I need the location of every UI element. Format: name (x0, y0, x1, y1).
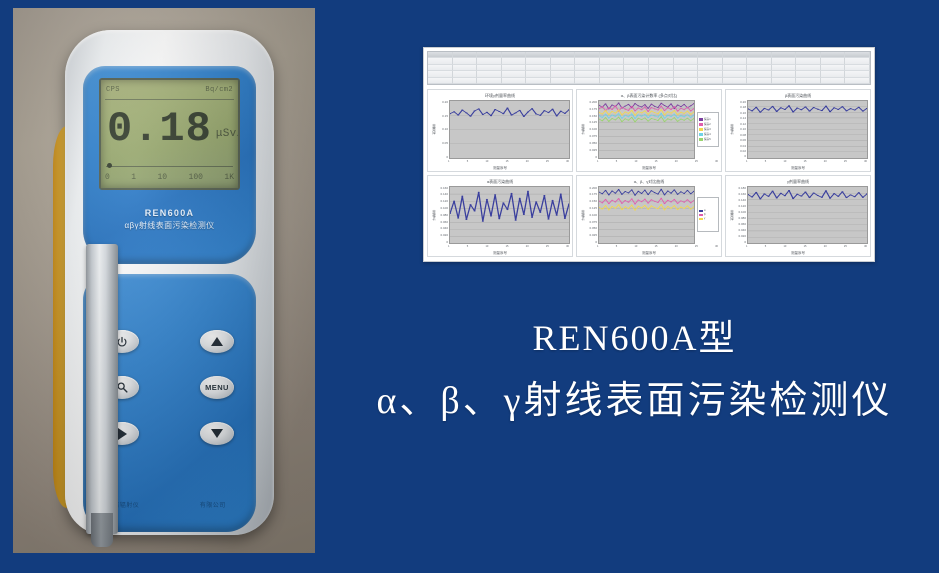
chart-plot (449, 100, 570, 159)
chart-y-tick: 0.175 (585, 192, 597, 196)
chart-y-tick: 0.150 (585, 199, 597, 203)
menu-button[interactable]: MENU (200, 376, 234, 399)
table-cell (575, 78, 600, 84)
down-button[interactable] (200, 422, 234, 445)
table-cell (772, 78, 797, 84)
legend-swatch-icon (699, 118, 703, 121)
chart-y-axis-label: 剂量率 (728, 186, 734, 245)
menu-button-label: MENU (205, 383, 229, 392)
device-brand-plate: REN600A αβγ射线表面污染检测仪 (83, 208, 256, 231)
chart-y-tick: 0 (734, 240, 746, 244)
triangle-up-icon (211, 337, 223, 346)
chart-y-tick: 0.125 (585, 120, 597, 124)
chart-y-ticks: 0.2000.1750.1500.1250.1000.0750.0500.025… (585, 100, 598, 159)
chart-y-tick: 0.160 (734, 192, 746, 196)
chart-y-tick: 0.180 (734, 186, 746, 190)
chart-y-tick: 0.04 (734, 144, 746, 148)
chart-y-tick: 0.10 (436, 127, 448, 131)
chart-legend-item: β (699, 213, 717, 216)
title-block: REN600A型 α、β、γ射线表面污染检测仪 (330, 315, 939, 429)
table-cell (649, 78, 674, 84)
chart-y-tick: 0.080 (436, 213, 448, 217)
table-cell (674, 78, 699, 84)
lcd-scale: 0 1 10 100 1K (105, 173, 234, 185)
chart-y-tick: 0.040 (436, 226, 448, 230)
table-cell (428, 78, 453, 84)
table-cell (796, 78, 821, 84)
chart-y-tick: 0 (436, 240, 448, 244)
lcd-bargraph (106, 162, 233, 169)
legend-label: 探头2 (704, 122, 711, 126)
chart-y-tick: 0.125 (585, 206, 597, 210)
chart-y-tick: 0.20 (734, 100, 746, 104)
chart-y-tick: 0.075 (585, 134, 597, 138)
chart-cell: β表面污染曲线计数率0.200.180.160.140.120.100.080.… (725, 89, 871, 172)
chart-title: α表面污染曲线 (430, 179, 570, 185)
chart-legend-item: 探头4 (699, 132, 717, 136)
chart-y-axis-label: 计数率 (430, 186, 436, 245)
chart-y-tick: 0.150 (585, 114, 597, 118)
chart-plot (747, 186, 868, 245)
handle-strap-foot (91, 513, 113, 547)
chart-x-axis-label: 测量序号 (577, 165, 721, 171)
chart-y-tick: 0.18 (734, 105, 746, 109)
lcd-display: CPS Bq/cm2 0.18 μSv/h 0 1 10 100 1K (99, 78, 240, 190)
table-cell (502, 78, 527, 84)
chart-y-ticks: 0.200.180.160.140.120.100.080.060.040.02… (734, 100, 747, 159)
chart-legend-item: 探头3 (699, 127, 717, 131)
chart-plot-area: 剂量率0.1800.1600.1400.1200.1000.0800.0600.… (728, 186, 868, 245)
chart-title: α、β、γ对比曲线 (579, 179, 719, 185)
chart-y-axis-label: 剂量率 (430, 100, 436, 159)
table-cell (624, 78, 649, 84)
chart-x-axis-label: 测量序号 (428, 165, 572, 171)
chart-y-tick: 0.020 (436, 233, 448, 237)
up-button[interactable] (200, 330, 234, 353)
chart-y-tick: 0 (585, 155, 597, 159)
table-cell (845, 78, 870, 84)
table-cell (698, 78, 723, 84)
device-photo: CPS Bq/cm2 0.18 μSv/h 0 1 10 100 1K (13, 8, 315, 553)
chart-y-tick: 0.140 (436, 192, 448, 196)
chart-y-axis-label: 计数率 (579, 100, 585, 159)
chart-x-axis-label: 测量序号 (726, 250, 870, 256)
chart-legend: αβγ (697, 197, 719, 232)
chart-x-axis-label: 测量序号 (428, 250, 572, 256)
chart-y-ticks: 0.2000.1750.1500.1250.1000.0750.0500.025… (585, 186, 598, 245)
legend-swatch-icon (699, 218, 703, 221)
chart-legend-item: 探头1 (699, 117, 717, 121)
chart-cell: γ剂量率曲线剂量率0.1800.1600.1400.1200.1000.0800… (725, 175, 871, 258)
lcd-status-right: Bq/cm2 (205, 86, 233, 94)
chart-cell: α、β表面污染计数率 (多点对比)计数率0.2000.1750.1500.125… (576, 89, 722, 172)
chart-y-tick: 0.175 (585, 107, 597, 111)
lcd-bargraph-marker (107, 163, 112, 168)
software-screenshot-panel: 环境γ剂量率曲线剂量率0.200.150.100.050151015202530… (423, 47, 875, 262)
chart-y-tick: 0.060 (734, 222, 746, 226)
chart-plot-area: 计数率0.200.180.160.140.120.100.080.060.040… (728, 100, 868, 159)
table-cell (723, 78, 748, 84)
device-footer-right: 有限公司 (200, 500, 226, 509)
chart-y-tick: 0.050 (585, 141, 597, 145)
chart-y-tick: 0.16 (734, 111, 746, 115)
device-subtitle-label: αβγ射线表面污染检测仪 (83, 220, 256, 231)
lcd-reading: 0.18 μSv/h (107, 102, 234, 156)
lcd-value: 0.18 (107, 108, 212, 150)
product-name-title: α、β、γ射线表面污染检测仪 (330, 373, 939, 429)
chart-y-tick: 0.05 (436, 141, 448, 145)
chart-legend: 探头1探头2探头3探头4探头5 (697, 112, 719, 147)
table-cell (453, 78, 478, 84)
data-table-strip (427, 51, 871, 85)
chart-y-ticks: 0.1800.1600.1400.1200.1000.0800.0600.040… (734, 186, 747, 245)
chart-legend-item: 探头2 (699, 122, 717, 126)
chart-title: β表面污染曲线 (728, 93, 868, 99)
table-cell (821, 78, 846, 84)
chart-plot-area: 计数率0.2000.1750.1500.1250.1000.0750.0500.… (579, 186, 719, 245)
table-cell (747, 78, 772, 84)
chart-plot (449, 186, 570, 245)
legend-swatch-icon (699, 123, 703, 126)
legend-swatch-icon (699, 138, 703, 141)
lcd-status-left: CPS (106, 86, 120, 94)
legend-label: β (704, 213, 706, 216)
chart-plot (747, 100, 868, 159)
lcd-unit: μSv/h (216, 128, 240, 140)
chart-y-axis-label: 计数率 (579, 186, 585, 245)
chart-y-tick: 0.20 (436, 100, 448, 104)
legend-label: α (704, 209, 706, 212)
chart-y-tick: 0.08 (734, 133, 746, 137)
product-model-title: REN600A型 (330, 315, 939, 361)
chart-y-tick: 0 (734, 154, 746, 158)
chart-y-tick: 0.200 (585, 186, 597, 190)
legend-swatch-icon (699, 214, 703, 217)
legend-swatch-icon (699, 133, 703, 136)
chart-y-tick: 0.025 (585, 233, 597, 237)
table-cell (551, 78, 576, 84)
chart-y-ticks: 0.1600.1400.1200.1000.0800.0600.0400.020… (436, 186, 449, 245)
chart-title: α、β表面污染计数率 (多点对比) (579, 93, 719, 99)
chart-y-tick: 0.060 (436, 220, 448, 224)
chart-plot (598, 100, 695, 159)
chart-x-axis-label: 测量序号 (577, 250, 721, 256)
chart-plot (598, 186, 695, 245)
chart-cell: α表面污染曲线计数率0.1600.1400.1200.1000.0800.060… (427, 175, 573, 258)
chart-cell: 环境γ剂量率曲线剂量率0.200.150.100.050151015202530… (427, 89, 573, 172)
chart-y-tick: 0.140 (734, 198, 746, 202)
chart-y-tick: 0.100 (585, 213, 597, 217)
chart-y-tick: 0.100 (734, 210, 746, 214)
chart-y-tick: 0.080 (734, 216, 746, 220)
chart-y-tick: 0.12 (734, 122, 746, 126)
legend-label: 探头1 (704, 117, 711, 121)
chart-y-ticks: 0.200.150.100.050 (436, 100, 449, 159)
handle-strap (86, 244, 118, 534)
legend-label: 探头3 (704, 127, 711, 131)
chart-y-tick: 0.020 (734, 234, 746, 238)
device-upper-bezel: CPS Bq/cm2 0.18 μSv/h 0 1 10 100 1K (83, 66, 256, 264)
triangle-down-icon (211, 429, 223, 438)
lcd-divider (105, 99, 234, 100)
chart-y-tick: 0.120 (734, 204, 746, 208)
chart-title: 环境γ剂量率曲线 (430, 93, 570, 99)
chart-cell: α、β、γ对比曲线计数率0.2000.1750.1500.1250.1000.0… (576, 175, 722, 258)
chart-y-tick: 0.06 (734, 138, 746, 142)
legend-swatch-icon (699, 128, 703, 131)
lcd-bargraph-line (106, 166, 233, 167)
chart-y-tick: 0.100 (585, 127, 597, 131)
table-cell (526, 78, 551, 84)
lcd-scale-tick: 100 (189, 173, 203, 185)
lcd-status-bar: CPS Bq/cm2 (106, 83, 233, 97)
chart-y-tick: 0.050 (585, 226, 597, 230)
chart-y-tick: 0.100 (436, 206, 448, 210)
chart-x-axis-label: 测量序号 (726, 165, 870, 171)
triangle-right-icon (118, 428, 127, 440)
lcd-scale-tick: 0 (105, 173, 110, 185)
chart-plot-area: 剂量率0.200.150.100.050 (430, 100, 570, 159)
chart-y-tick: 0.120 (436, 199, 448, 203)
chart-legend-item: γ (699, 217, 717, 220)
table-cell (477, 78, 502, 84)
chart-y-tick: 0.14 (734, 116, 746, 120)
lcd-scale-tick: 1K (224, 173, 234, 185)
chart-plot-area: 计数率0.2000.1750.1500.1250.1000.0750.0500.… (579, 100, 719, 159)
chart-y-tick: 0.040 (734, 228, 746, 232)
chart-y-tick: 0.160 (436, 186, 448, 190)
chart-legend-item: 探头5 (699, 137, 717, 141)
chart-y-tick: 0 (585, 240, 597, 244)
device-model-label: REN600A (83, 208, 256, 218)
chart-y-tick: 0.200 (585, 100, 597, 104)
chart-plot-area: 计数率0.1600.1400.1200.1000.0800.0600.0400.… (430, 186, 570, 245)
lcd-scale-tick: 1 (131, 173, 136, 185)
chart-y-tick: 0.075 (585, 220, 597, 224)
chart-legend-item: α (699, 209, 717, 212)
chart-y-tick: 0.025 (585, 148, 597, 152)
legend-swatch-icon (699, 210, 703, 213)
lcd-scale-tick: 10 (158, 173, 168, 185)
chart-y-tick: 0.10 (734, 127, 746, 131)
chart-y-tick: 0.15 (436, 114, 448, 118)
chart-title: γ剂量率曲线 (728, 179, 868, 185)
chart-y-tick: 0 (436, 155, 448, 159)
legend-label: 探头5 (704, 137, 711, 141)
legend-label: γ (704, 217, 705, 220)
chart-y-tick: 0.02 (734, 149, 746, 153)
chart-y-axis-label: 计数率 (728, 100, 734, 159)
chart-grid: 环境γ剂量率曲线剂量率0.200.150.100.050151015202530… (427, 89, 871, 257)
legend-label: 探头4 (704, 132, 711, 136)
table-cell (600, 78, 625, 84)
